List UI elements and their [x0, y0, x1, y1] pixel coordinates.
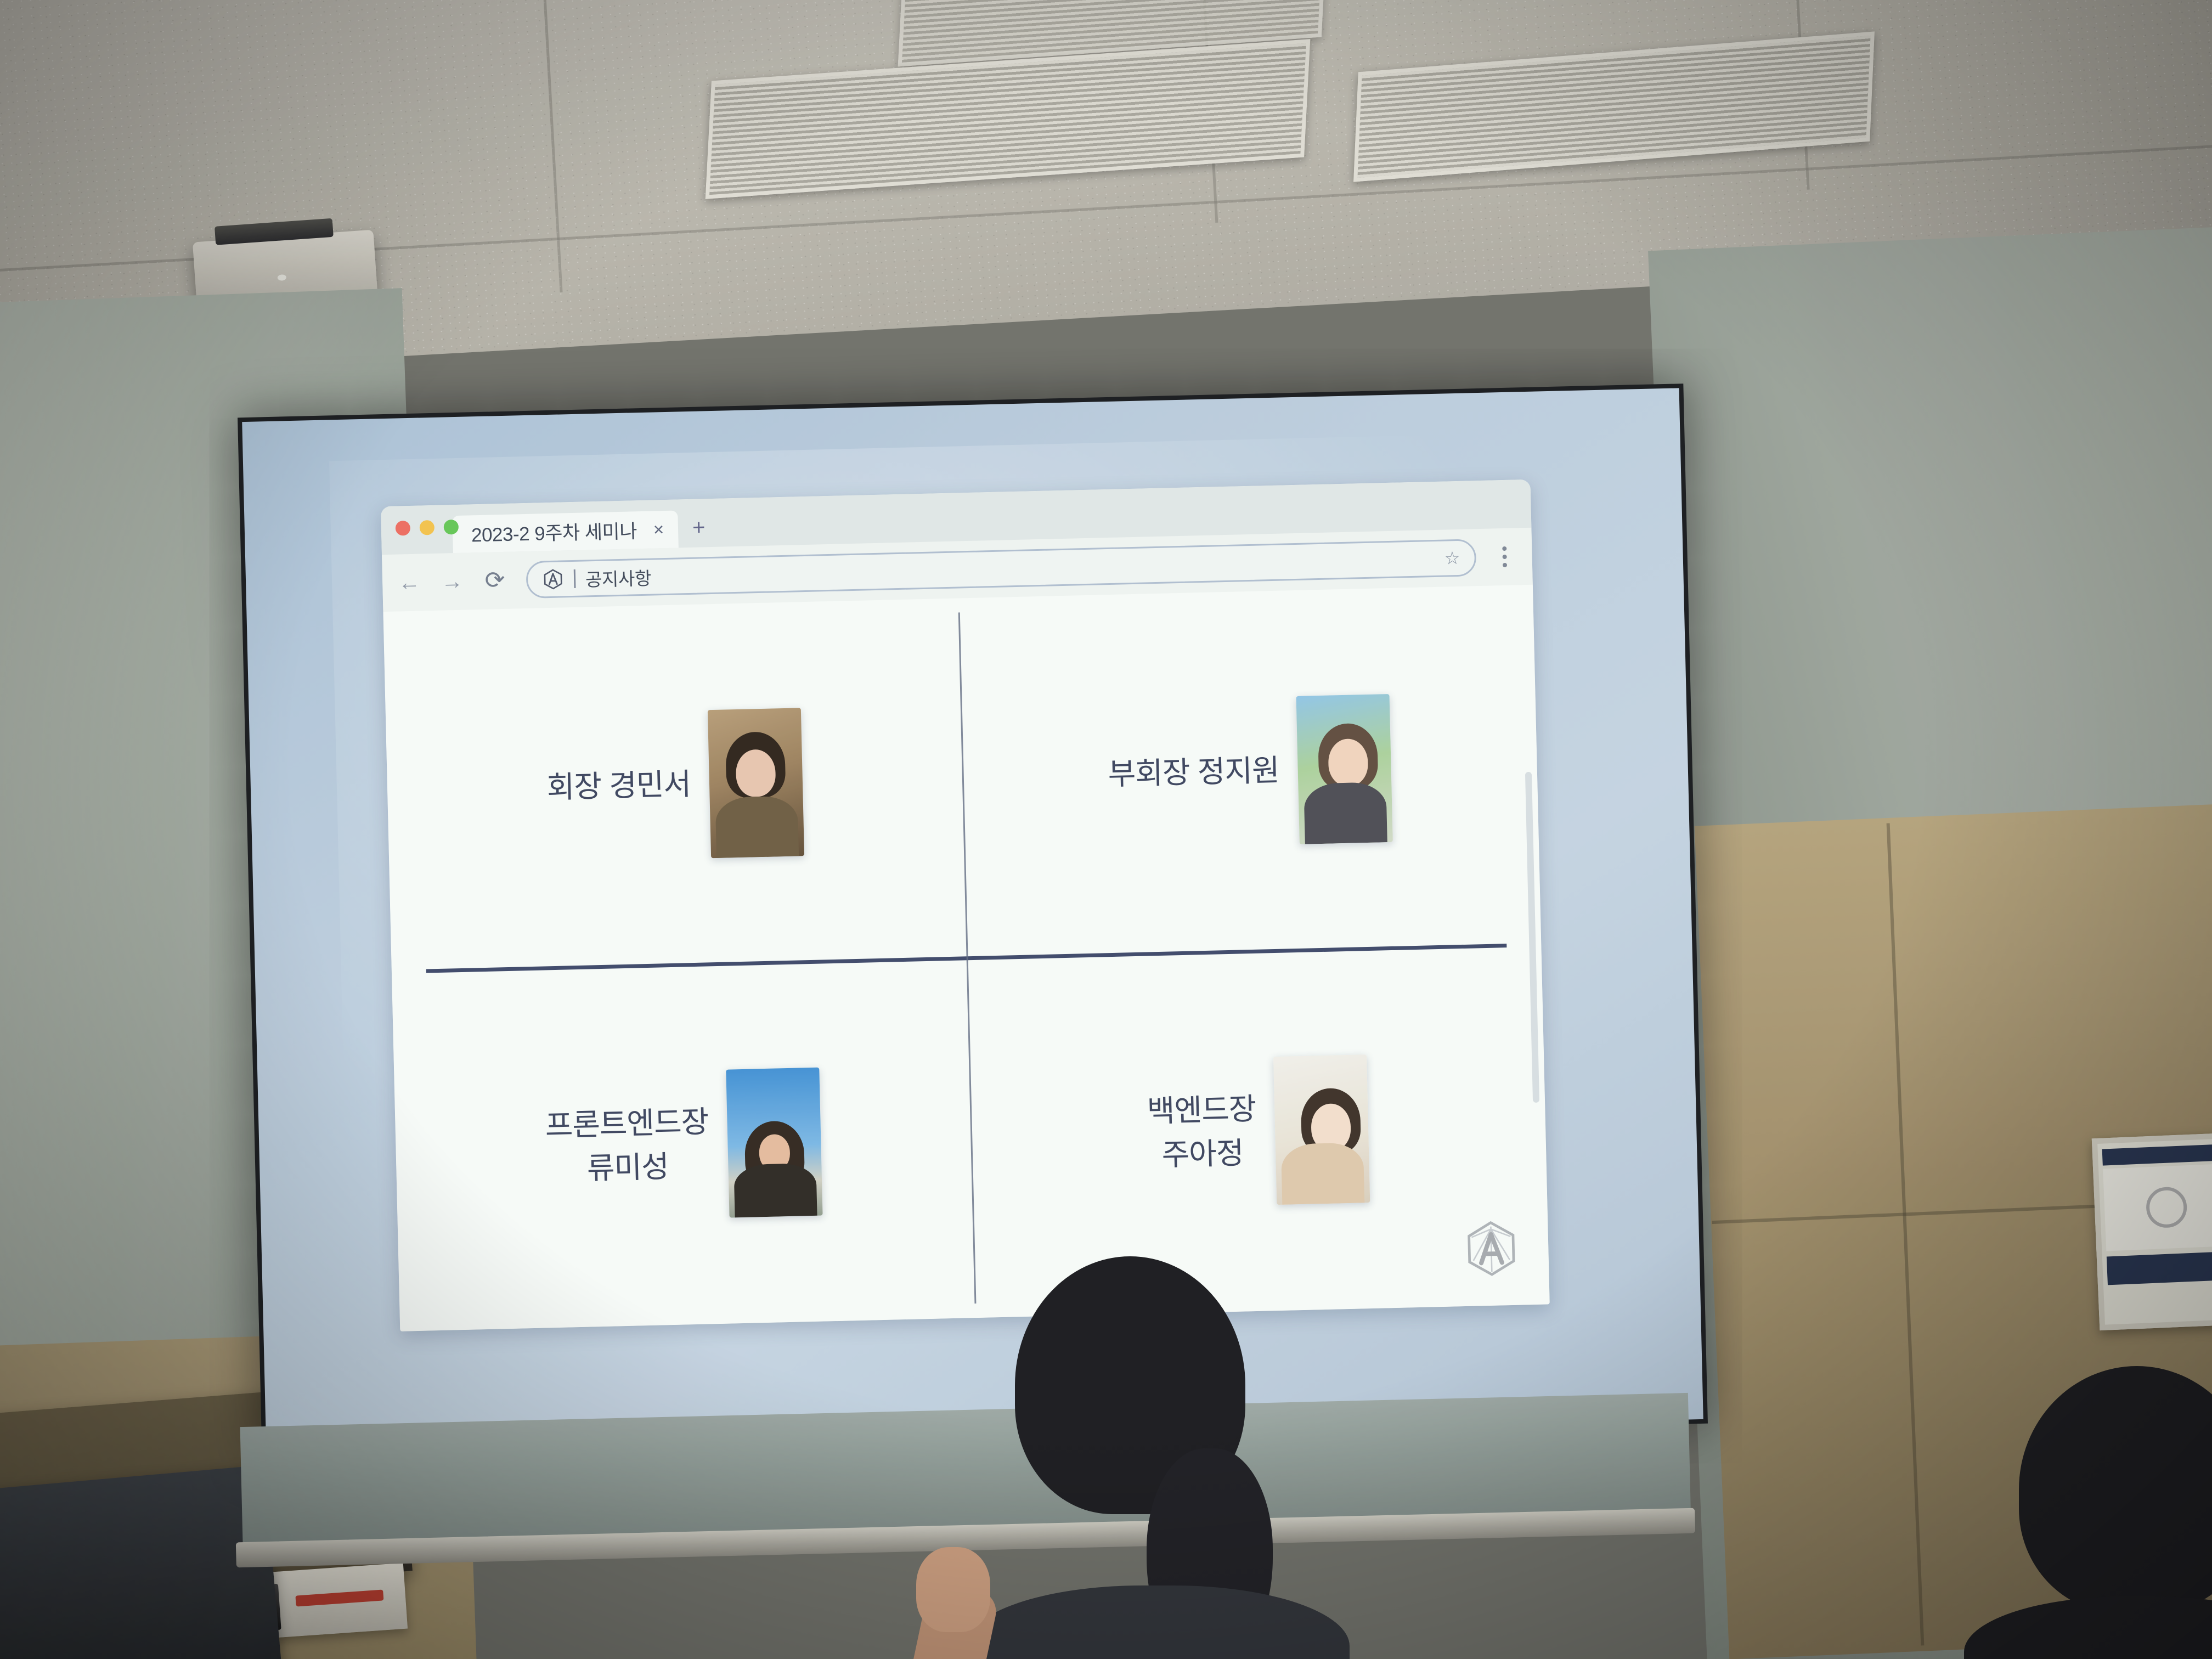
close-tab-icon[interactable]: × — [653, 520, 664, 538]
wall-notice-poster — [2092, 1133, 2212, 1330]
member-cell-frontend-lead: 프론트엔드장 류미성 — [392, 958, 975, 1331]
photo-face — [1328, 738, 1368, 787]
reload-icon[interactable]: ⟳ — [480, 568, 510, 593]
audience-member-front — [982, 1256, 1333, 1659]
photo-body — [1304, 782, 1387, 844]
photo-body — [1281, 1142, 1365, 1205]
window-controls[interactable] — [395, 520, 459, 536]
member-photo-vice-president — [1296, 694, 1392, 844]
close-window-button[interactable] — [395, 521, 410, 536]
member-label: 회장 경민서 — [546, 763, 691, 810]
bookmark-star-icon[interactable]: ☆ — [1444, 548, 1460, 569]
kebab-menu-icon[interactable] — [1489, 546, 1520, 567]
photo-body — [733, 1163, 817, 1218]
member-grid: 회장 경민서 부회장 정지원 — [383, 585, 1549, 1331]
browser-window-mockup: 2023-2 9주차 세미나 × + ← → ⟳ — [381, 479, 1550, 1331]
omnibox-text: 공지사항 — [585, 563, 651, 591]
projection-surface: 2023-2 9주차 세미나 × + ← → ⟳ — [242, 388, 1703, 1453]
member-label: 프론트엔드장 류미성 — [545, 1101, 710, 1192]
member-cell-president: 회장 경민서 — [383, 598, 966, 972]
page-content: 회장 경민서 부회장 정지원 — [383, 585, 1549, 1331]
member-label: 부회장 정지원 — [1108, 749, 1280, 797]
classroom-projection-photo: 2023-2 9주차 세미나 × + ← → ⟳ — [0, 0, 2212, 1659]
projection-screen: 2023-2 9주차 세미나 × + ← → ⟳ — [238, 383, 1708, 1458]
head — [2019, 1366, 2212, 1613]
member-cell-vice-president: 부회장 정지원 — [958, 585, 1541, 958]
shoulders — [966, 1585, 1350, 1659]
back-arrow-icon[interactable]: ← — [394, 571, 425, 594]
new-tab-button[interactable]: + — [692, 516, 706, 539]
minimize-window-button[interactable] — [419, 520, 435, 535]
photo-body — [715, 795, 799, 858]
shoulders — [1964, 1596, 2212, 1659]
member-photo-backend-lead — [1273, 1054, 1370, 1205]
poster-header-bar — [2102, 1144, 2212, 1166]
raised-hand — [916, 1547, 990, 1632]
marker-red — [295, 1589, 383, 1606]
forward-arrow-icon[interactable]: → — [437, 570, 467, 592]
omnibox-separator — [574, 569, 576, 588]
poster-footer-bar — [2107, 1251, 2212, 1285]
browser-tab-title: 2023-2 9주차 세미나 — [471, 516, 637, 548]
audience-member-right — [1997, 1366, 2212, 1659]
member-photo-president — [708, 708, 804, 858]
browser-tab[interactable]: 2023-2 9주차 세미나 × — [452, 510, 679, 553]
hexagon-a-logo-watermark — [1464, 1220, 1518, 1278]
maximize-window-button[interactable] — [443, 520, 459, 535]
member-label: 백엔드장 주아정 — [1147, 1087, 1257, 1177]
member-photo-frontend-lead — [726, 1067, 822, 1217]
hexagon-a-logo-icon — [542, 568, 565, 590]
